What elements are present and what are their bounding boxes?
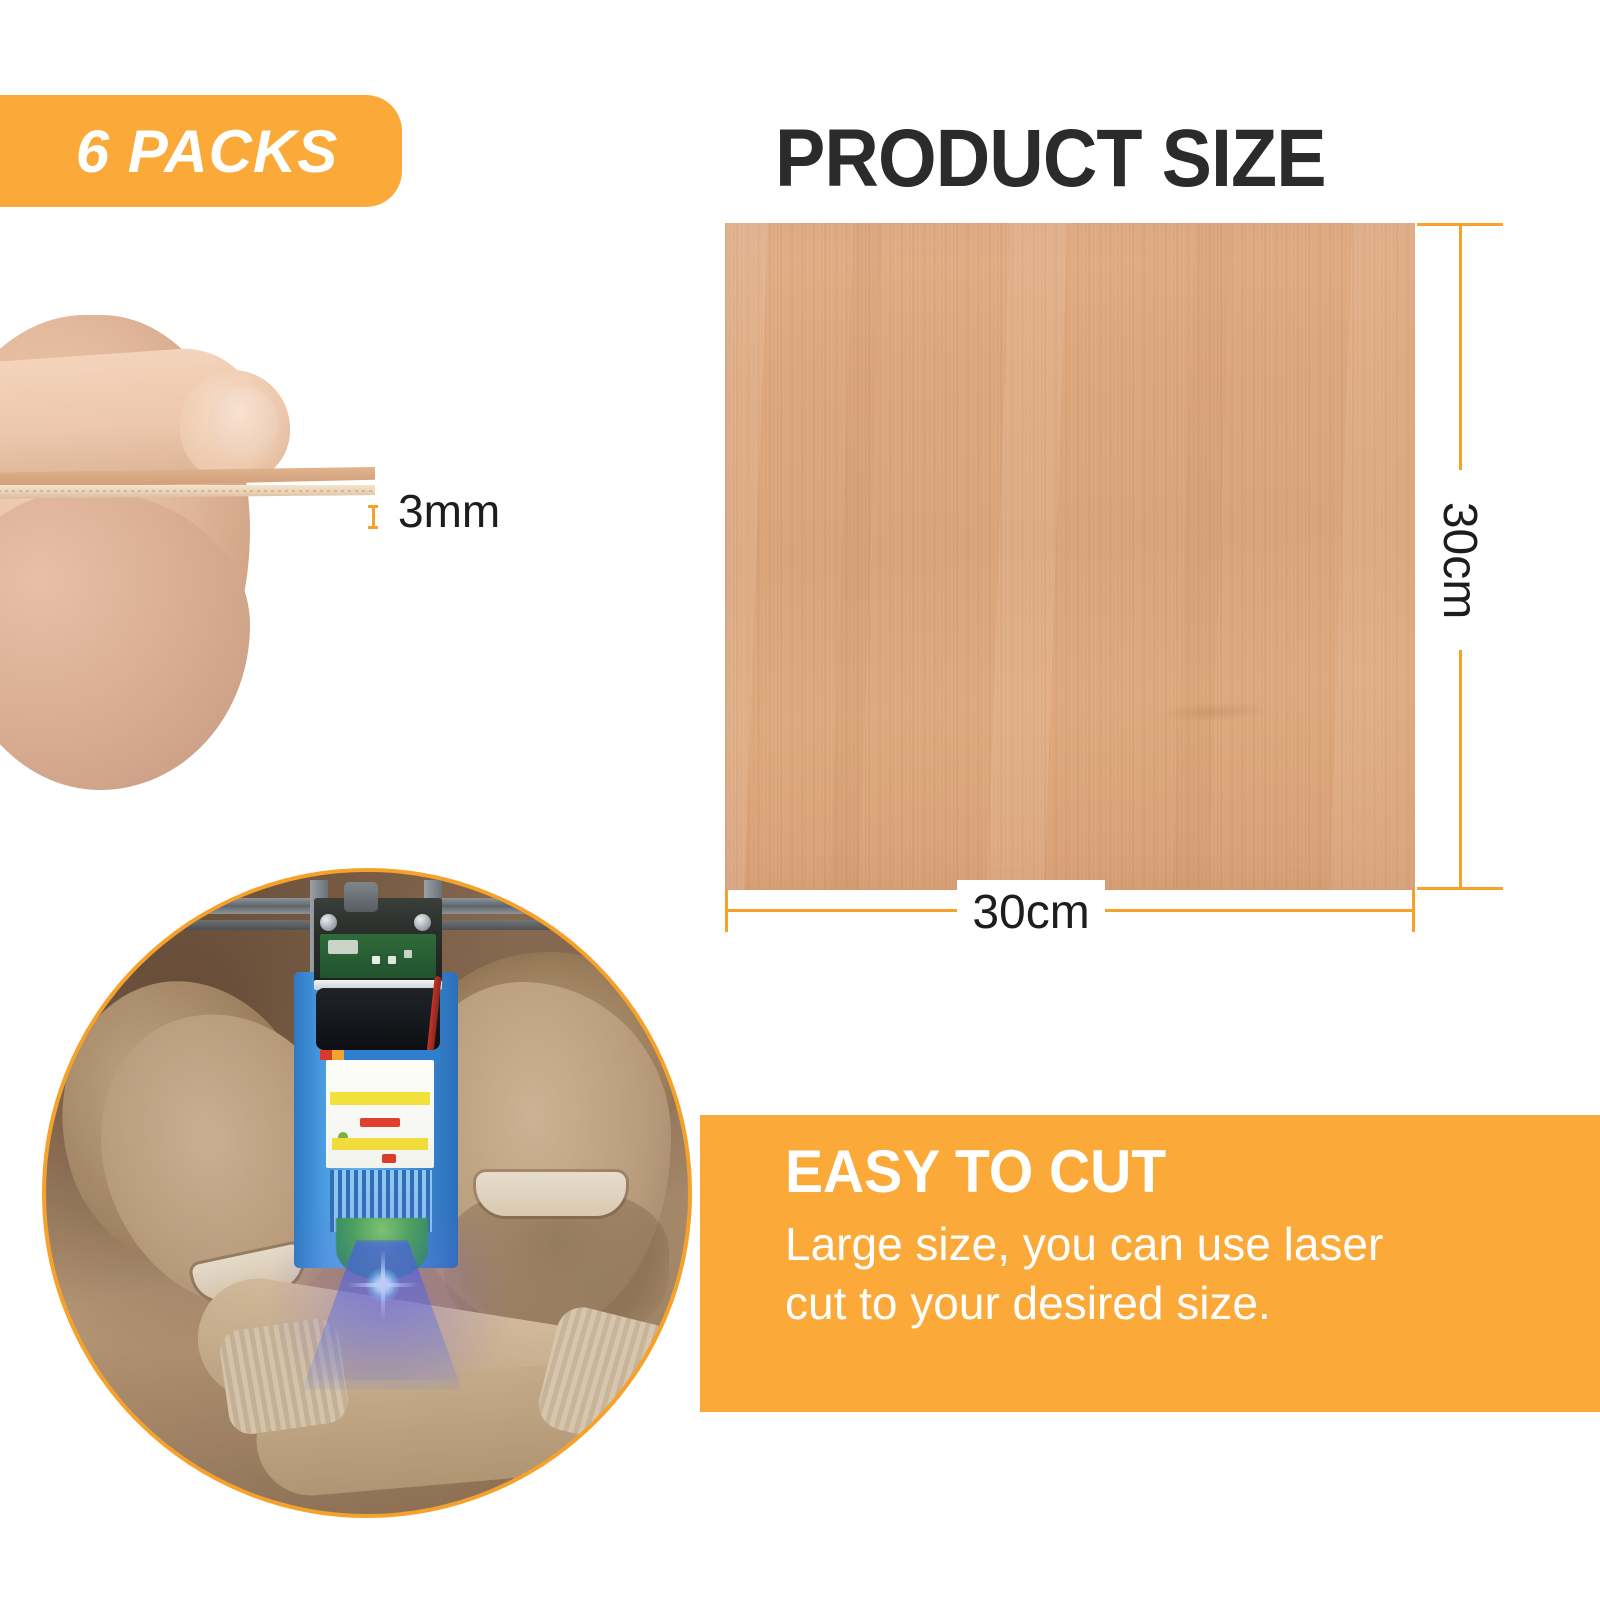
laser-warning-label bbox=[326, 1060, 434, 1168]
wood-board-image bbox=[725, 223, 1415, 890]
height-dimension-value: 30cm bbox=[1433, 501, 1488, 618]
screw-right-icon bbox=[414, 914, 431, 931]
board-edge-profile bbox=[0, 467, 375, 501]
page-title: PRODUCT SIZE bbox=[775, 112, 1326, 206]
capacitor-icon bbox=[344, 882, 378, 912]
width-dimension-cap-right bbox=[1412, 890, 1415, 932]
feature-banner-body: Large size, you can use laser cut to you… bbox=[785, 1215, 1575, 1333]
height-dimension-cap-bottom bbox=[1417, 887, 1503, 890]
pack-count-badge: 6 PACKS bbox=[0, 95, 402, 207]
thickness-dimension-icon bbox=[368, 505, 378, 529]
laser-spark-icon bbox=[366, 1268, 400, 1302]
feature-banner-body-line2: cut to your desired size. bbox=[785, 1274, 1575, 1333]
board-ply-core bbox=[0, 485, 375, 499]
feature-banner-heading: EASY TO CUT bbox=[785, 1137, 1166, 1206]
green-pcb bbox=[320, 934, 436, 978]
wood-grain-texture bbox=[725, 223, 1415, 890]
height-dimension-label: 30cm bbox=[1400, 465, 1520, 655]
laser-module-graphic bbox=[274, 880, 474, 1310]
thumbnail-shape bbox=[208, 387, 278, 459]
pack-count-label: 6 PACKS bbox=[76, 117, 339, 186]
color-band bbox=[320, 1050, 440, 1060]
width-dimension-label: 30cm bbox=[940, 884, 1122, 940]
hand-holding-board-photo bbox=[0, 275, 390, 795]
thickness-label: 3mm bbox=[398, 484, 500, 538]
laser-engraving-photo bbox=[42, 868, 692, 1518]
cooling-fan bbox=[316, 988, 440, 1050]
screw-left-icon bbox=[320, 914, 337, 931]
infographic-canvas: 6 PACKS PRODUCT SIZE 3mm 30cm 30cm EASY … bbox=[0, 0, 1600, 1600]
feature-banner-body-line1: Large size, you can use laser bbox=[785, 1215, 1575, 1274]
